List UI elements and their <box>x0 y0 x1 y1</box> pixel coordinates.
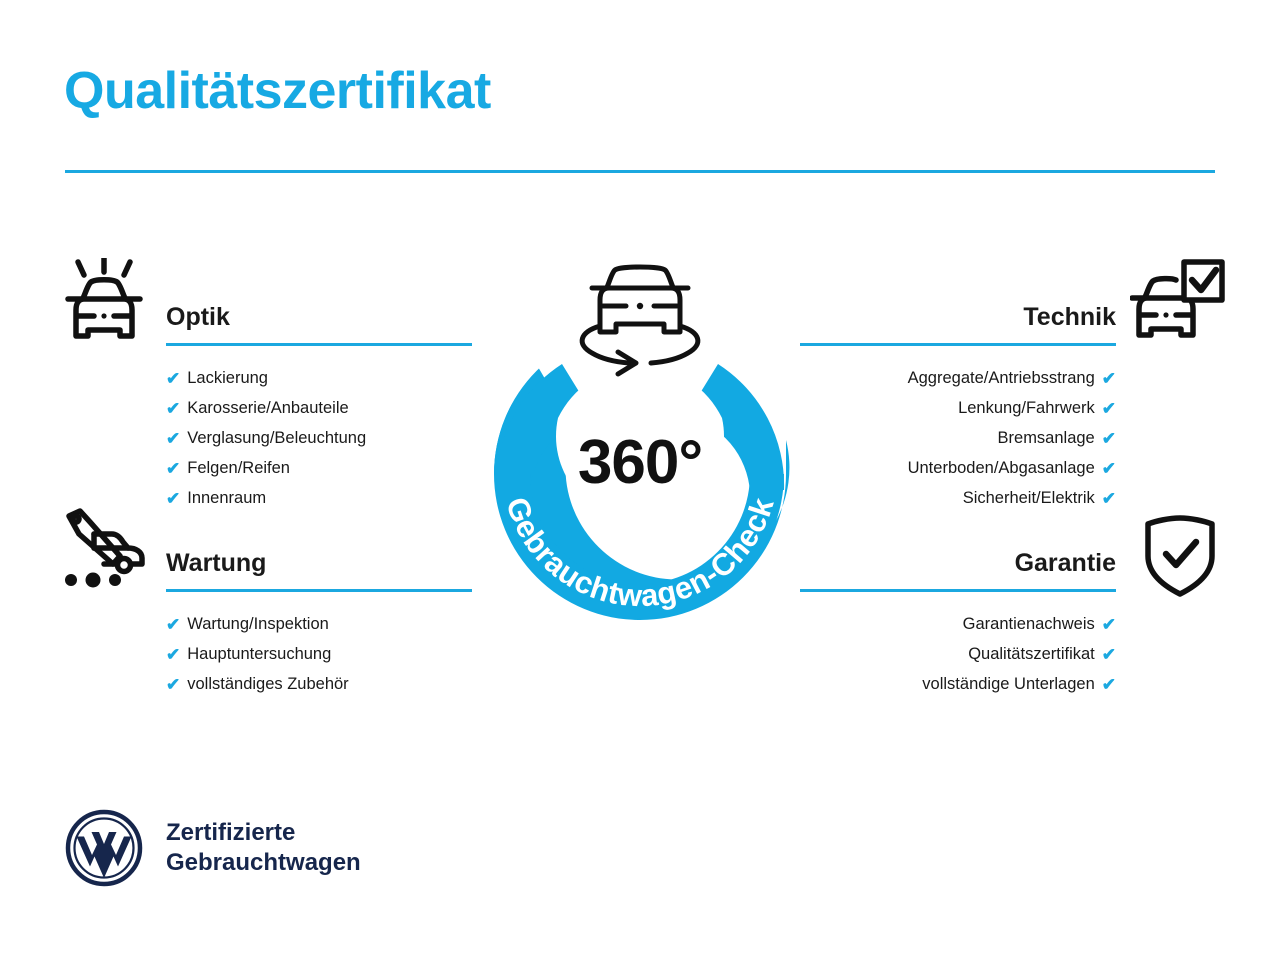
section-title-wartung: Wartung <box>166 551 472 576</box>
section-divider-technik <box>800 343 1116 346</box>
section-title-technik: Technik <box>800 305 1116 330</box>
list-item-label: Lackierung <box>187 363 268 393</box>
list-item-label: Bremsanlage <box>998 423 1095 453</box>
car-shine-icon <box>62 258 146 355</box>
header-divider <box>65 170 1215 173</box>
list-item-label: Wartung/Inspektion <box>187 609 329 639</box>
check-icon: ✔ <box>1102 676 1116 693</box>
page-title: Qualitätszertifikat <box>64 62 491 122</box>
check-icon: ✔ <box>166 616 180 633</box>
list-item-label: Hauptuntersuchung <box>187 639 331 669</box>
list-item: Aggregate/Antriebsstrang ✔ <box>800 363 1116 393</box>
footer-brand: Zertifizierte Gebrauchtwagen <box>64 808 361 888</box>
check-icon: ✔ <box>1102 616 1116 633</box>
list-item: Garantienachweis ✔ <box>800 609 1116 639</box>
list-item-label: Qualitätszertifikat <box>968 639 1095 669</box>
wrench-car-icon <box>60 508 150 597</box>
checklist-garantie: Garantienachweis ✔ Qualitätszertifikat ✔… <box>800 609 1116 699</box>
list-item: ✔ Lackierung <box>166 363 472 393</box>
shield-check-icon <box>1142 514 1218 603</box>
list-item-label: Karosserie/Anbauteile <box>187 393 348 423</box>
brand-wordmark: Zertifizierte Gebrauchtwagen <box>166 818 361 879</box>
check-icon: ✔ <box>1102 400 1116 417</box>
badge-360-value: 360° <box>466 432 814 494</box>
list-item-label: vollständige Unterlagen <box>922 669 1094 699</box>
list-item: ✔ vollständiges Zubehör <box>166 669 472 699</box>
check-icon: ✔ <box>166 490 180 507</box>
checklist-wartung: ✔ Wartung/Inspektion ✔ Hauptuntersuchung… <box>166 609 472 699</box>
list-item: Sicherheit/Elektrik ✔ <box>800 483 1116 513</box>
list-item-label: Verglasung/Beleuchtung <box>187 423 366 453</box>
check-icon: ✔ <box>166 400 180 417</box>
section-divider-wartung <box>166 589 472 592</box>
list-item: ✔ Felgen/Reifen <box>166 453 472 483</box>
check-icon: ✔ <box>1102 646 1116 663</box>
list-item-label: Aggregate/Antriebsstrang <box>908 363 1095 393</box>
list-item-label: Sicherheit/Elektrik <box>963 483 1095 513</box>
list-item: ✔ Wartung/Inspektion <box>166 609 472 639</box>
volkswagen-logo <box>64 808 144 888</box>
list-item: ✔ Innenraum <box>166 483 472 513</box>
list-item-label: Felgen/Reifen <box>187 453 290 483</box>
section-technik: Technik Aggregate/Antriebsstrang ✔ Lenku… <box>800 305 1116 513</box>
list-item: ✔ Hauptuntersuchung <box>166 639 472 669</box>
check-icon: ✔ <box>1102 460 1116 477</box>
check-icon: ✔ <box>166 460 180 477</box>
check-icon: ✔ <box>166 676 180 693</box>
list-item: Bremsanlage ✔ <box>800 423 1116 453</box>
list-item: Unterboden/Abgasanlage ✔ <box>800 453 1116 483</box>
check-icon: ✔ <box>1102 370 1116 387</box>
list-item: vollständige Unterlagen ✔ <box>800 669 1116 699</box>
check-icon: ✔ <box>166 646 180 663</box>
check-icon: ✔ <box>1102 430 1116 447</box>
checklist-optik: ✔ Lackierung ✔ Karosserie/Anbauteile ✔ V… <box>166 363 472 513</box>
list-item-label: Innenraum <box>187 483 266 513</box>
brand-line-2: Gebrauchtwagen <box>166 848 361 878</box>
list-item-label: Garantienachweis <box>963 609 1095 639</box>
car-checkbox-icon <box>1130 258 1226 353</box>
list-item-label: Unterboden/Abgasanlage <box>908 453 1095 483</box>
360-gebrauchtwagen-check-badge: Gebrauchtwagen-Check 360° <box>466 240 814 640</box>
section-optik: Optik ✔ Lackierung ✔ Karosserie/Anbautei… <box>166 305 472 513</box>
list-item: Qualitätszertifikat ✔ <box>800 639 1116 669</box>
brand-line-1: Zertifizierte <box>166 818 361 848</box>
section-garantie: Garantie Garantienachweis ✔ Qualitätszer… <box>800 551 1116 699</box>
list-item: Lenkung/Fahrwerk ✔ <box>800 393 1116 423</box>
checklist-technik: Aggregate/Antriebsstrang ✔ Lenkung/Fahrw… <box>800 363 1116 513</box>
list-item-label: Lenkung/Fahrwerk <box>958 393 1095 423</box>
list-item: ✔ Karosserie/Anbauteile <box>166 393 472 423</box>
section-title-garantie: Garantie <box>800 551 1116 576</box>
section-divider-optik <box>166 343 472 346</box>
check-icon: ✔ <box>166 370 180 387</box>
section-title-optik: Optik <box>166 305 472 330</box>
check-icon: ✔ <box>166 430 180 447</box>
check-icon: ✔ <box>1102 490 1116 507</box>
list-item-label: vollständiges Zubehör <box>187 669 348 699</box>
section-divider-garantie <box>800 589 1116 592</box>
list-item: ✔ Verglasung/Beleuchtung <box>166 423 472 453</box>
section-wartung: Wartung ✔ Wartung/Inspektion ✔ Hauptunte… <box>166 551 472 699</box>
